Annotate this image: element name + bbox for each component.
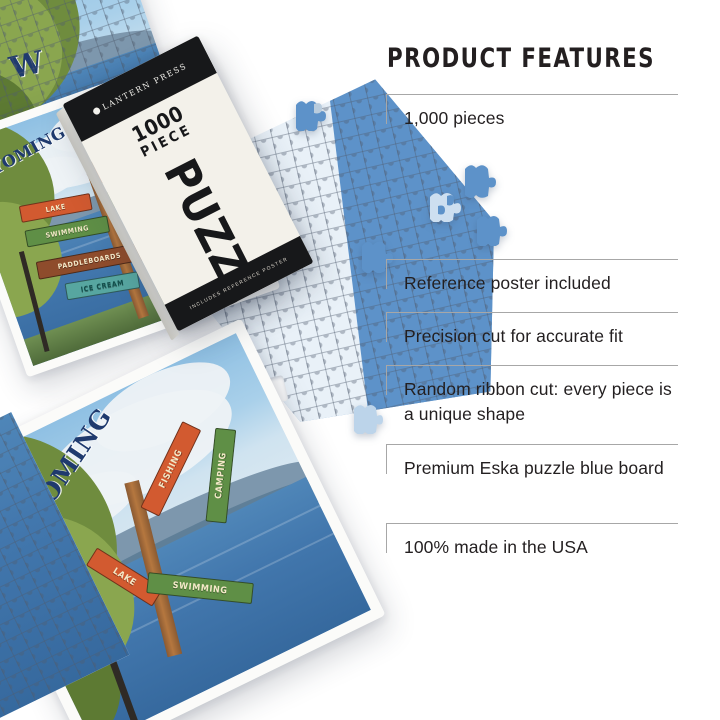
feature-item-eska-board: Premium Eska puzzle blue board: [386, 444, 678, 528]
sign-label: LAKE: [45, 203, 67, 215]
feature-text: 100% made in the USA: [386, 523, 678, 560]
feature-item-ribbon-cut: Random ribbon cut: every piece is a uniq…: [386, 365, 678, 449]
feature-text: Precision cut for accurate fit: [386, 312, 678, 349]
feature-text: Premium Eska puzzle blue board: [386, 444, 678, 481]
box-puzzle-word: PUZZLE: [153, 150, 256, 281]
brand-dot-icon: [91, 106, 100, 115]
sign-label: ICE CREAM: [80, 278, 125, 293]
page-title: PRODUCT FEATURES: [387, 44, 668, 74]
loose-piece-1: [290, 95, 336, 131]
feature-text: Random ribbon cut: every piece is a uniq…: [386, 365, 678, 427]
feature-item-pieces: 1,000 pieces: [386, 94, 678, 164]
product-features-panel: PRODUCT FEATURES 1,000 pieces Reference …: [386, 44, 706, 604]
loose-piece-6: [350, 400, 388, 434]
feature-text: Reference poster included: [386, 259, 678, 296]
sign-label: CAMPING: [213, 452, 228, 500]
feature-item-reference-poster: Reference poster included: [386, 259, 678, 317]
feature-item-made-in-usa: 100% made in the USA: [386, 523, 678, 581]
product-feature-composite: W FISHING LAKE CAMPING: [0, 0, 720, 720]
sign-label: SWIMMING: [172, 581, 228, 597]
puzzle-photograph: W FISHING LAKE CAMPING: [0, 0, 430, 720]
feature-text: 1,000 pieces: [386, 94, 678, 131]
sign-label: SWIMMING: [45, 223, 90, 239]
feature-item-precision-cut: Precision cut for accurate fit: [386, 312, 678, 370]
